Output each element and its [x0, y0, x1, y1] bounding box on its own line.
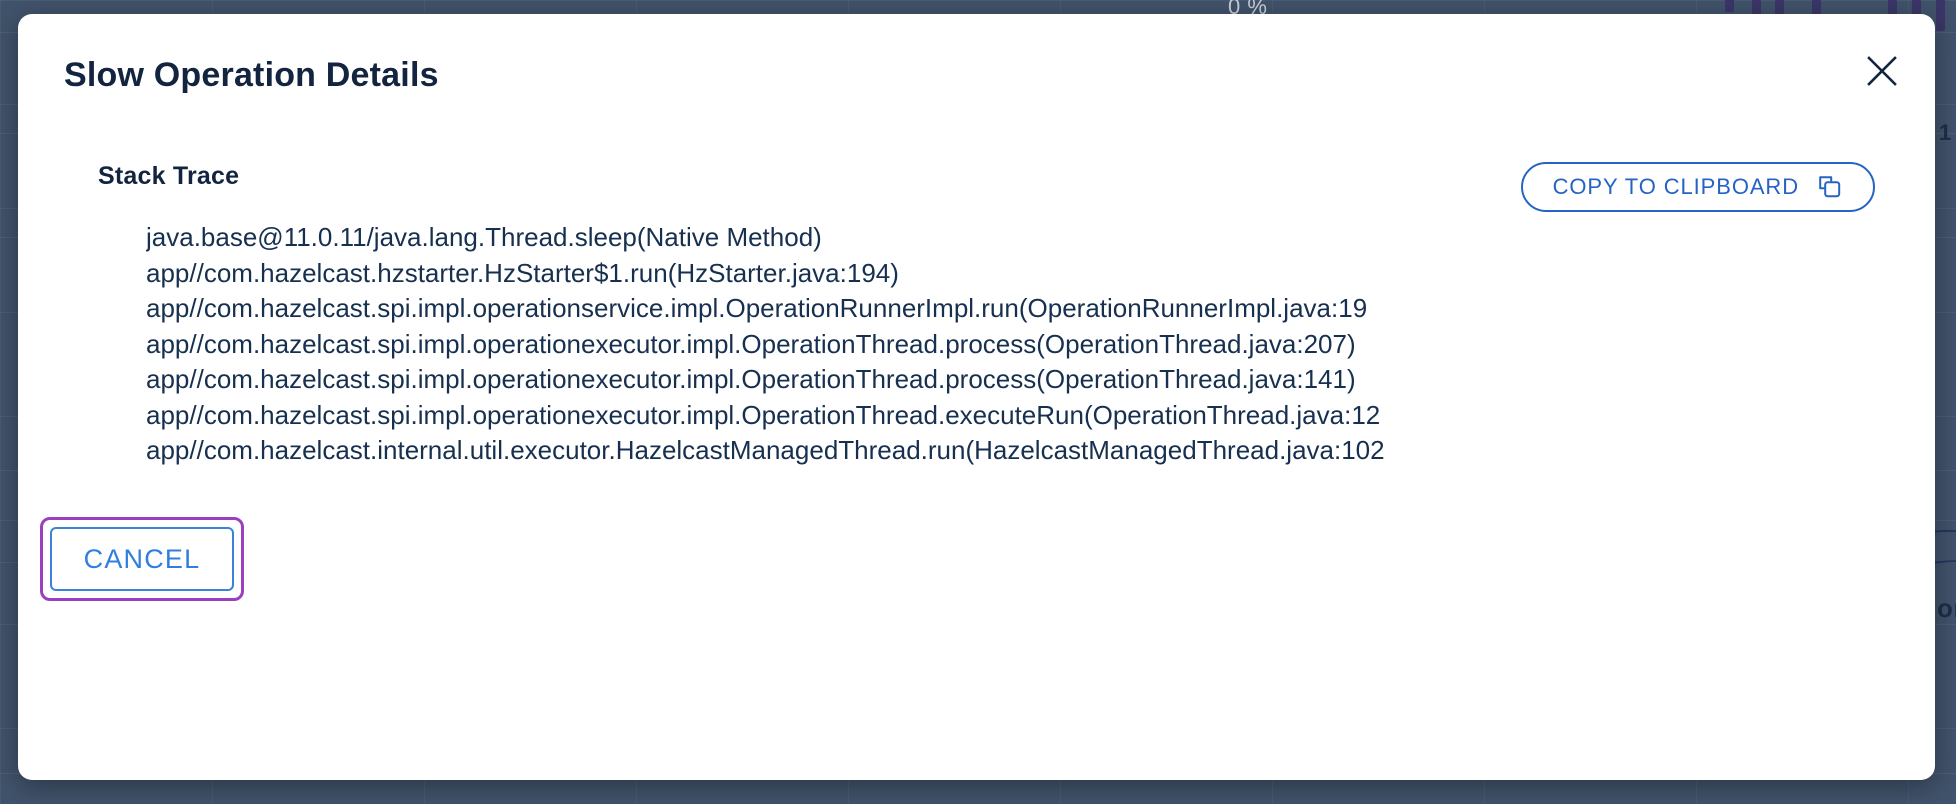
stack-trace-line: app//com.hazelcast.spi.impl.operationser… — [146, 291, 1935, 327]
stack-trace-heading: Stack Trace — [98, 162, 239, 191]
chart-bar — [1936, 0, 1945, 31]
stack-trace-line: app//com.hazelcast.spi.impl.operationexe… — [146, 398, 1935, 434]
stack-trace-line: app//com.hazelcast.spi.impl.operationexe… — [146, 362, 1935, 398]
dialog-title: Slow Operation Details — [64, 56, 439, 95]
cancel-button[interactable]: CANCEL — [50, 527, 234, 591]
copy-to-clipboard-label: COPY TO CLIPBOARD — [1553, 176, 1799, 198]
slow-operation-details-dialog: Slow Operation Details Stack Trace COPY … — [18, 14, 1935, 780]
chart-axis-label-right: 1 — [1939, 120, 1952, 146]
copy-to-clipboard-button[interactable]: COPY TO CLIPBOARD — [1521, 162, 1875, 212]
stack-trace-list: java.base@11.0.11/java.lang.Thread.sleep… — [146, 220, 1935, 469]
stack-trace-line: app//com.hazelcast.internal.util.executo… — [146, 433, 1935, 469]
stack-trace-line: app//com.hazelcast.spi.impl.operationexe… — [146, 327, 1935, 363]
chart-bar — [1725, 0, 1734, 12]
copy-icon — [1817, 174, 1843, 200]
screen: 0 % 1 on Slow Operation Details Stack Tr… — [0, 0, 1956, 804]
close-icon — [1865, 54, 1899, 88]
close-button[interactable] — [1853, 42, 1911, 100]
stack-trace-line: app//com.hazelcast.hzstarter.HzStarter$1… — [146, 256, 1935, 292]
stack-trace-line: java.base@11.0.11/java.lang.Thread.sleep… — [146, 220, 1935, 256]
cancel-button-focus-ring: CANCEL — [40, 517, 244, 601]
